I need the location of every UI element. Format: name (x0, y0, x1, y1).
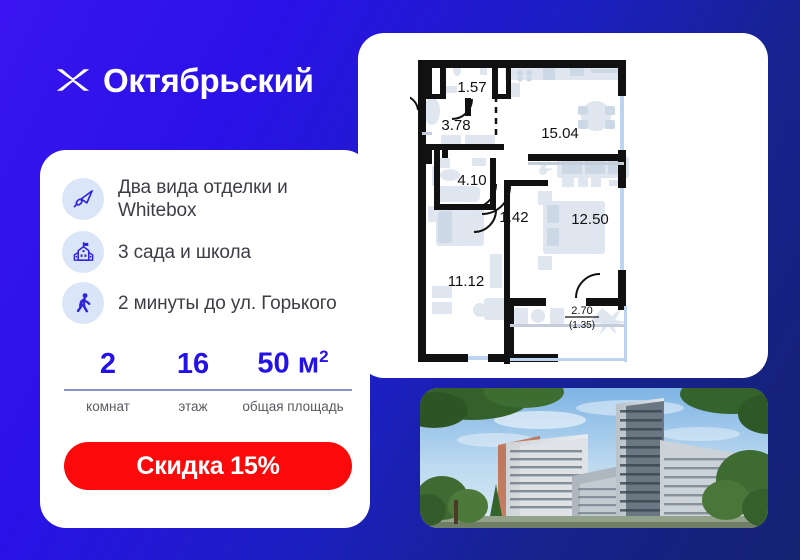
feature-item-walk-distance: 2 минуты до ул. Горького (62, 282, 352, 324)
feature-list: Два вида отделки и Whitebox (62, 176, 352, 324)
stat-value-area: 50 м2 (234, 348, 352, 379)
area-label-bedroom-small: 11.12 (448, 273, 484, 290)
discount-badge[interactable]: Скидка 15% (64, 442, 352, 490)
area-label-corridor: 1.42 (499, 209, 528, 226)
school-building-icon (62, 231, 104, 273)
stats-divider (64, 389, 352, 391)
brand-logo[interactable]: Октябрьский (55, 62, 314, 98)
floor-plan-panel[interactable]: 1.57 3.78 15.04 4.10 1.42 12.50 11.12 2.… (358, 33, 768, 378)
floor-plan-drawing: 1.57 3.78 15.04 4.10 1.42 12.50 11.12 2.… (410, 58, 668, 370)
stat-value-floor: 16 (152, 350, 234, 379)
building-photo[interactable] (420, 388, 768, 528)
building-render-illustration (420, 388, 768, 528)
advertisement-canvas: Октябрьский (0, 0, 800, 560)
feature-label: 3 сада и школа (118, 241, 251, 264)
apartment-stats: 2 16 50 м2 комнат этаж общая площадь (64, 348, 352, 415)
area-label-hallway: 3.78 (441, 117, 470, 134)
x-mark-icon (55, 62, 91, 98)
area-label-balcony: 2.70 (571, 305, 592, 317)
pedestrian-walking-icon (62, 282, 104, 324)
area-label-bathroom: 4.10 (457, 172, 486, 189)
plan-furniture-layer (424, 64, 629, 335)
area-label-wc: 1.57 (457, 79, 486, 96)
brand-name: Октябрьский (103, 64, 314, 97)
area-label-bedroom-large: 12.50 (571, 211, 609, 228)
stat-value-rooms: 2 (64, 350, 152, 379)
area-label-living-kitchen: 15.04 (541, 125, 579, 142)
stat-label-floor: этаж (152, 399, 234, 415)
stat-label-area: общая площадь (234, 399, 352, 415)
area-label-balcony-coefficient: (1.35) (569, 320, 595, 331)
feature-item-schools: 3 сада и школа (62, 231, 352, 273)
trowel-icon (62, 178, 104, 220)
feature-item-finishing: Два вида отделки и Whitebox (62, 176, 352, 222)
stat-label-rooms: комнат (64, 399, 152, 415)
feature-label: Два вида отделки и Whitebox (118, 176, 352, 222)
feature-label: 2 минуты до ул. Горького (118, 292, 337, 315)
offer-info-card: Два вида отделки и Whitebox (40, 150, 370, 528)
